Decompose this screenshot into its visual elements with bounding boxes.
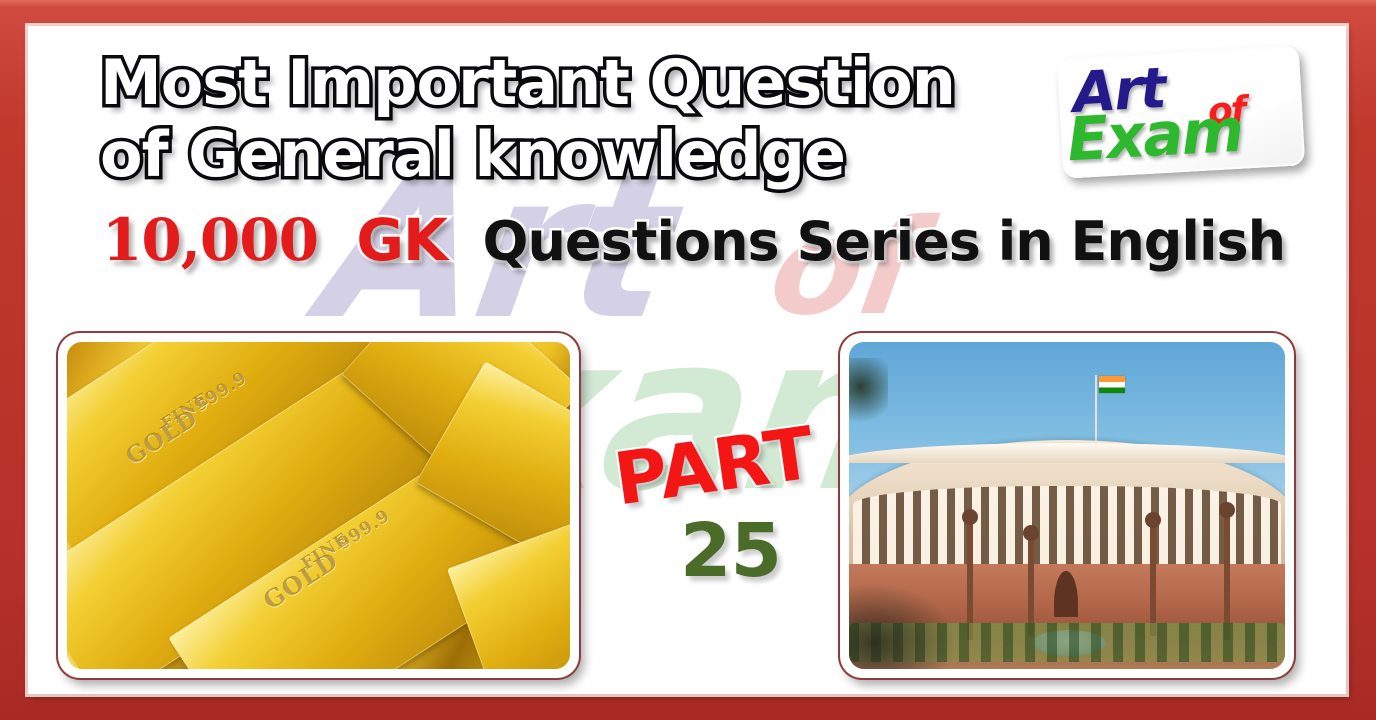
parliament-image [849, 342, 1285, 669]
headline-line-2: of General knowledge [100, 118, 845, 191]
logo-word-exam: Exam [1066, 101, 1244, 171]
question-count: 10,000 [102, 206, 318, 274]
art-of-exam-logo[interactable]: Art of Exam [1057, 45, 1305, 178]
india-flag-icon [1099, 376, 1125, 393]
headline-line-1: Most Important Question [100, 46, 955, 119]
subject-badge: GK [356, 206, 447, 274]
gold-bars-artwork: 999.9 FINE GOLD 999.9 FINE GOLD [67, 342, 570, 669]
poster-frame: Art of Exam Most Important Question of G… [0, 0, 1376, 720]
lamp-post [967, 522, 973, 640]
colonnade [853, 486, 1280, 571]
headline-line-3: 10,000 GK Questions Series in English [102, 206, 1285, 274]
series-subtitle: Questions Series in English [483, 210, 1286, 273]
parliament-photo-card[interactable] [840, 333, 1294, 678]
foreground-shadow [849, 584, 954, 669]
gold-bars-photo-card[interactable]: 999.9 FINE GOLD 999.9 FINE GOLD [58, 333, 579, 678]
flagpole [1095, 375, 1097, 447]
lamp-post [1028, 538, 1034, 636]
part-number: 25 [680, 508, 781, 594]
tree [849, 358, 888, 430]
gold-bars-image: 999.9 FINE GOLD 999.9 FINE GOLD [67, 342, 570, 669]
lamp-post [1150, 525, 1156, 636]
part-label: PART [609, 411, 818, 522]
lamp-post [1224, 515, 1230, 639]
poster-inner-canvas: Art of Exam Most Important Question of G… [28, 26, 1346, 694]
